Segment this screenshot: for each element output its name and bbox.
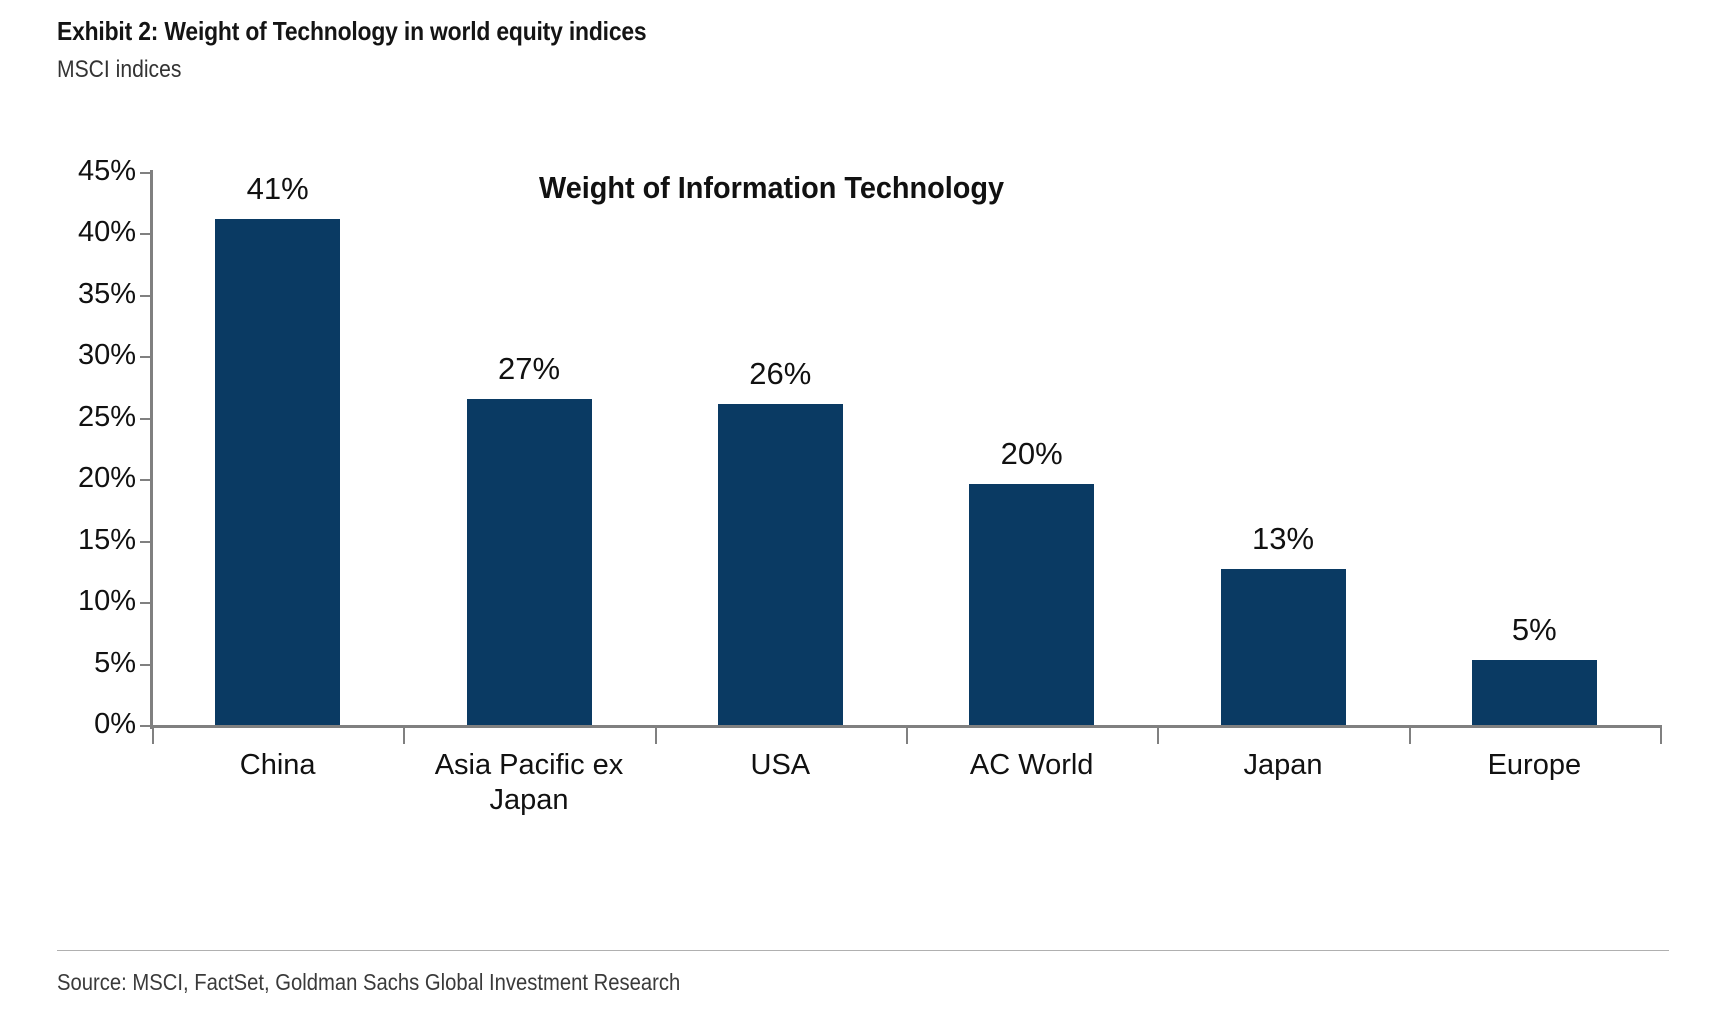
x-axis-tick-mark (906, 728, 908, 744)
x-axis-tick-mark (1660, 728, 1662, 744)
x-axis-tick-mark (1157, 728, 1159, 744)
source-note: Source: MSCI, FactSet, Goldman Sachs Glo… (57, 969, 680, 996)
category-label-line: USA (650, 748, 910, 783)
bar-value-label: 20% (932, 438, 1132, 469)
category-label-line: Japan (1153, 748, 1413, 783)
category-label-line: Asia Pacific ex (399, 748, 659, 783)
bar[interactable] (969, 484, 1094, 725)
y-axis-tick-label: 5% (16, 649, 136, 678)
bar[interactable] (1472, 660, 1597, 725)
x-axis-tick-mark (403, 728, 405, 744)
category-label-line: Europe (1404, 748, 1664, 783)
footer-divider (57, 950, 1669, 951)
category-label-line: AC World (902, 748, 1162, 783)
bar-value-label: 41% (178, 173, 378, 204)
bar-value-label: 27% (429, 353, 629, 384)
y-axis-tick-label: 40% (16, 218, 136, 247)
exhibit-chart-panel: Exhibit 2: Weight of Technology in world… (0, 0, 1734, 1018)
bar-value-label: 5% (1434, 614, 1634, 645)
bar[interactable] (1221, 569, 1346, 725)
y-axis-tick-label: 0% (16, 710, 136, 739)
y-axis-tick-label: 30% (16, 341, 136, 370)
x-axis-category-label: AC World (902, 748, 1162, 783)
bar[interactable] (467, 399, 592, 725)
bar[interactable] (215, 219, 340, 725)
x-axis-category-label: USA (650, 748, 910, 783)
exhibit-subtitle: MSCI indices (57, 56, 181, 84)
x-axis-category-label: China (148, 748, 408, 783)
y-axis-tick-label: 25% (16, 403, 136, 432)
exhibit-title: Exhibit 2: Weight of Technology in world… (57, 16, 646, 47)
x-axis-category-label: Japan (1153, 748, 1413, 783)
y-axis-tick-label: 20% (16, 464, 136, 493)
y-axis-tick-label: 10% (16, 587, 136, 616)
x-axis-tick-mark (1409, 728, 1411, 744)
x-axis-category-label: Asia Pacific exJapan (399, 748, 659, 818)
bar[interactable] (718, 404, 843, 725)
x-axis-tick-mark (655, 728, 657, 744)
bar-value-label: 26% (680, 358, 880, 389)
x-axis-tick-mark (152, 728, 154, 744)
x-axis-category-label: Europe (1404, 748, 1664, 783)
y-axis-tick-label: 35% (16, 280, 136, 309)
category-label-line: China (148, 748, 408, 783)
category-label-line: Japan (399, 783, 659, 818)
y-axis-tick-label: 15% (16, 526, 136, 555)
y-axis-tick-label: 45% (16, 157, 136, 186)
bar-value-label: 13% (1183, 523, 1383, 554)
